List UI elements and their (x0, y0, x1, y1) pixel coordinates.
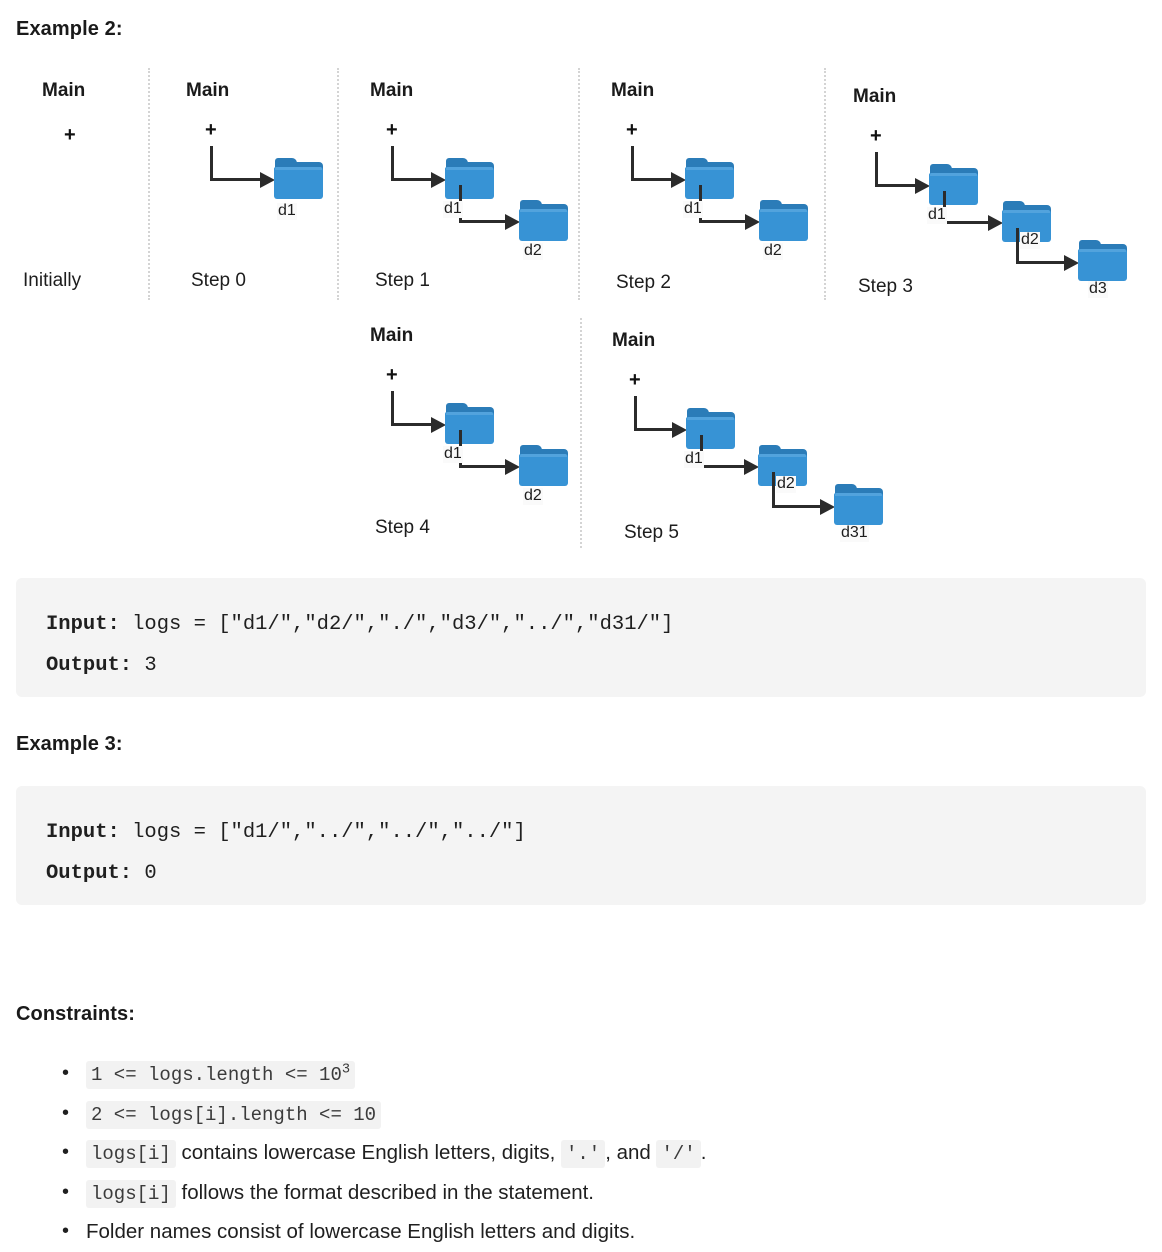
connector-horizontal (699, 220, 747, 223)
constraint-code-text: logs[i] (91, 1143, 171, 1165)
constraint-code-text: logs[i] (91, 1183, 171, 1205)
folder-glint (687, 417, 734, 420)
folder-body (274, 167, 323, 199)
folder-label: d2 (776, 476, 796, 493)
connector-vertical (391, 146, 394, 181)
connector-horizontal (943, 221, 990, 224)
constraint-code-text: '.' (566, 1143, 600, 1165)
panel-caption-step-0: Step 0 (191, 270, 246, 292)
folder-label: d1 (443, 446, 463, 463)
panel-root-label: Main (853, 86, 896, 108)
constraint-code-dot: '.' (561, 1140, 605, 1168)
connector-horizontal (634, 428, 674, 431)
plus-icon: + (386, 365, 398, 385)
plus-icon: + (626, 120, 638, 140)
folder-icon (759, 200, 809, 242)
connector-horizontal (631, 178, 673, 181)
panel-initially: Main + Initially (0, 0, 148, 310)
folder-label: d31 (840, 525, 869, 542)
input-value: logs = ["d1/","../","../","../"] (120, 821, 526, 844)
constraint-code-slash: '/' (656, 1140, 700, 1168)
plus-icon: + (205, 120, 217, 140)
example-2-code-text: Input: logs = ["d1/","d2/","./","d3/",".… (46, 604, 1116, 686)
constraint-item: logs[i] contains lowercase English lette… (40, 1134, 1140, 1174)
folder-label: d1 (683, 201, 703, 218)
arrow-head-icon (505, 214, 520, 230)
connector-horizontal (772, 505, 822, 508)
constraint-code: 1 <= logs.length <= 103 (86, 1061, 355, 1089)
arrow-head-icon (915, 178, 930, 194)
folder-body (759, 209, 808, 241)
output-label: Output: (46, 862, 132, 885)
panel-step-0: Main + d1 Step 0 (148, 0, 337, 310)
arrow-head-icon (1064, 255, 1079, 271)
folder-icon (1078, 240, 1128, 282)
panel-step-5: Main + d1 d2 d31 Step (580, 250, 940, 550)
folder-icon (519, 200, 569, 242)
folder-body (445, 167, 494, 199)
folder-body (1078, 249, 1127, 281)
panel-caption-step-5: Step 5 (624, 522, 679, 544)
panel-root-label: Main (186, 80, 229, 102)
folder-icon (519, 445, 569, 487)
arrow-head-icon (671, 172, 686, 188)
constraint-text: Folder names consist of lowercase Englis… (86, 1220, 635, 1243)
panel-root-label: Main (42, 80, 85, 102)
example-3-code-text: Input: logs = ["d1/","../","../","../"] … (46, 812, 1116, 894)
connector-horizontal (210, 178, 262, 181)
constraint-item: 1 <= logs.length <= 103 (40, 1055, 1140, 1095)
folder-glint (275, 167, 322, 170)
example-3-heading: Example 3: (16, 733, 123, 756)
panel-root-label: Main (612, 330, 655, 352)
folder-glint (1003, 210, 1050, 213)
connector-vertical (634, 396, 637, 431)
panel-root-label: Main (370, 80, 413, 102)
folder-glint (520, 454, 567, 457)
arrow-head-icon (260, 172, 275, 188)
arrow-head-icon (505, 459, 520, 475)
arrow-head-icon (820, 499, 835, 515)
folder-body (685, 167, 734, 199)
input-label: Input: (46, 821, 120, 844)
connector-vertical (210, 146, 213, 181)
arrow-head-icon (988, 215, 1003, 231)
folder-icon (274, 158, 324, 200)
constraints-list: 1 <= logs.length <= 103 2 <= logs[i].len… (40, 1055, 1140, 1251)
connector-horizontal (391, 178, 433, 181)
connector-horizontal (700, 465, 746, 468)
connector-vertical (391, 391, 394, 426)
input-label: Input: (46, 613, 120, 636)
folder-body (445, 412, 494, 444)
arrow-head-icon (672, 422, 687, 438)
connector-vertical (1016, 228, 1019, 264)
connector-horizontal (1016, 261, 1066, 264)
plus-icon: + (870, 126, 882, 146)
folder-label: d3 (1088, 281, 1108, 298)
connector-vertical (772, 472, 775, 508)
panel-root-label: Main (370, 325, 413, 347)
constraint-text: contains lowercase English letters, digi… (176, 1141, 561, 1164)
constraint-item: Folder names consist of lowercase Englis… (40, 1213, 1140, 1251)
folder-glint (835, 493, 882, 496)
folder-icon (445, 403, 495, 445)
plus-icon: + (386, 120, 398, 140)
panel-root-label: Main (611, 80, 654, 102)
constraints-heading: Constraints: (16, 1003, 135, 1026)
constraint-text: . (701, 1141, 707, 1164)
folder-label: d1 (927, 207, 947, 224)
arrow-head-icon (431, 172, 446, 188)
output-value: 3 (132, 654, 157, 677)
connector-horizontal (875, 184, 917, 187)
folder-label: d2 (1020, 232, 1040, 249)
panel-caption-initially: Initially (23, 270, 81, 292)
folder-glint (520, 209, 567, 212)
example-2-code-block: Input: logs = ["d1/","d2/","./","d3/",".… (16, 578, 1146, 697)
panel-step-4: Main + d1 d2 Step 4 (337, 250, 580, 550)
constraint-item: logs[i] follows the format described in … (40, 1174, 1140, 1214)
folder-body (929, 173, 978, 205)
folder-glint (686, 167, 733, 170)
folder-label: d2 (523, 488, 543, 505)
folder-glint (759, 454, 806, 457)
folder-glint (760, 209, 807, 212)
arrow-head-icon (431, 417, 446, 433)
panel-caption-step-4: Step 4 (375, 517, 430, 539)
folder-icon (834, 484, 884, 526)
constraint-item: 2 <= logs[i].length <= 10 (40, 1095, 1140, 1135)
plus-icon: + (629, 370, 641, 390)
constraint-code: logs[i] (86, 1180, 176, 1208)
folder-glint (930, 173, 977, 176)
arrow-head-icon (744, 459, 759, 475)
constraint-code-text: 1 <= logs.length <= 10 (91, 1064, 342, 1086)
example-3-code-block: Input: logs = ["d1/","../","../","../"] … (16, 786, 1146, 905)
arrow-head-icon (745, 214, 760, 230)
connector-horizontal (391, 423, 433, 426)
input-value: logs = ["d1/","d2/","./","d3/","../","d3… (120, 613, 674, 636)
folder-icon (445, 158, 495, 200)
constraint-code-superscript: 3 (342, 1063, 350, 1078)
folder-glint (446, 412, 493, 415)
folder-icon (685, 158, 735, 200)
folder-steps-diagram: Main + Initially Main + d1 Step 0 Main + (0, 0, 1162, 560)
folder-label: d1 (443, 201, 463, 218)
constraint-text: , and (605, 1141, 656, 1164)
folder-body (686, 417, 735, 449)
plus-icon: + (64, 125, 76, 145)
output-label: Output: (46, 654, 132, 677)
connector-horizontal (459, 220, 507, 223)
constraint-code-text: '/' (661, 1143, 695, 1165)
folder-body (834, 493, 883, 525)
output-value: 0 (132, 862, 157, 885)
folder-label: d1 (684, 451, 704, 468)
connector-vertical (875, 152, 878, 187)
folder-body (519, 209, 568, 241)
constraint-code: 2 <= logs[i].length <= 10 (86, 1101, 381, 1129)
folder-icon (686, 408, 736, 450)
constraint-code: logs[i] (86, 1140, 176, 1168)
folder-icon (929, 164, 979, 206)
constraint-text: follows the format described in the stat… (176, 1181, 594, 1204)
folder-label: d1 (277, 203, 297, 220)
constraint-code-text: 2 <= logs[i].length <= 10 (91, 1104, 376, 1126)
folder-glint (446, 167, 493, 170)
folder-glint (1079, 249, 1126, 252)
connector-horizontal (459, 465, 507, 468)
folder-body (519, 454, 568, 486)
connector-vertical (631, 146, 634, 181)
